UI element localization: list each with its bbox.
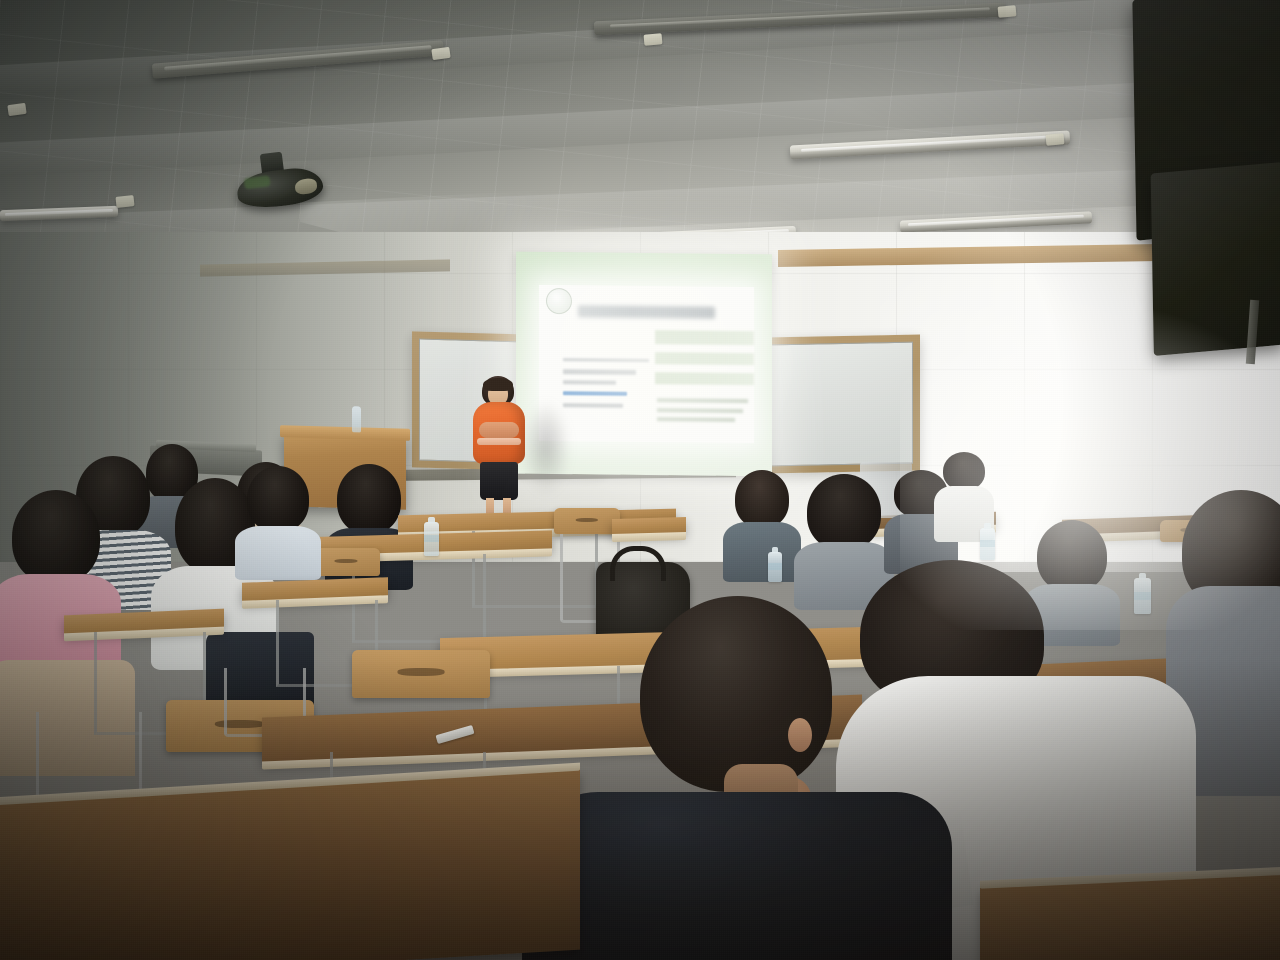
student-hair (943, 452, 985, 490)
ceiling-clip (998, 5, 1017, 18)
slide-title-text (578, 306, 716, 319)
presenter-belt (477, 438, 521, 445)
student-hair (337, 464, 401, 534)
ceiling-projector (233, 147, 327, 213)
slide-bullet-line-highlighted (563, 391, 628, 396)
student-hair (640, 596, 832, 792)
presentation-slide (539, 285, 754, 443)
student-hair (735, 470, 789, 528)
whiteboard-right (764, 335, 920, 474)
presenter-shadow (522, 400, 570, 496)
desk (612, 517, 686, 536)
slide-bullet-line (563, 404, 623, 409)
water-bottle (424, 522, 439, 556)
presenter-black-skirt (480, 462, 518, 500)
overhead-display-panel-secondary (1151, 162, 1280, 356)
student-hair (807, 474, 881, 550)
student-hair (247, 466, 309, 532)
student-torso (723, 522, 801, 582)
desk (242, 577, 388, 603)
desk (980, 872, 1280, 960)
water-bottle (768, 552, 782, 582)
student-torso (235, 526, 321, 580)
student-light-blue-back (236, 466, 320, 574)
water-bottle (980, 528, 995, 560)
ceiling-clip (115, 195, 134, 208)
ceiling-clip (1046, 133, 1065, 146)
slide-right-text (657, 408, 743, 413)
slide-bullet-line (563, 358, 649, 362)
slide-right-box (655, 330, 754, 345)
chair (352, 650, 490, 698)
water-bottle (352, 406, 361, 432)
student-hair (12, 490, 100, 584)
slide-right-box (655, 372, 754, 385)
student-dark-tee (522, 792, 952, 960)
student-ear (788, 718, 812, 752)
student-center-dark (724, 470, 800, 574)
ceiling (0, 0, 1280, 268)
slide-right-text (657, 417, 734, 422)
slide-bullet-line (563, 380, 617, 385)
presenter-fringe (483, 378, 513, 391)
chair (312, 548, 380, 576)
presenter (469, 376, 529, 516)
desk (0, 770, 580, 960)
chair (554, 508, 620, 534)
presenter-arms (479, 422, 519, 438)
classroom-photo: A photograph taken from the back of a di… (0, 0, 1280, 960)
lectern-top (280, 425, 410, 441)
slide-logo-icon (546, 288, 572, 314)
slide-right-box (655, 352, 754, 365)
slide-bullet-line (563, 369, 636, 375)
slide-right-text (657, 398, 747, 403)
ceiling-clip (644, 33, 663, 46)
whiteboard-right-surface (771, 342, 913, 467)
